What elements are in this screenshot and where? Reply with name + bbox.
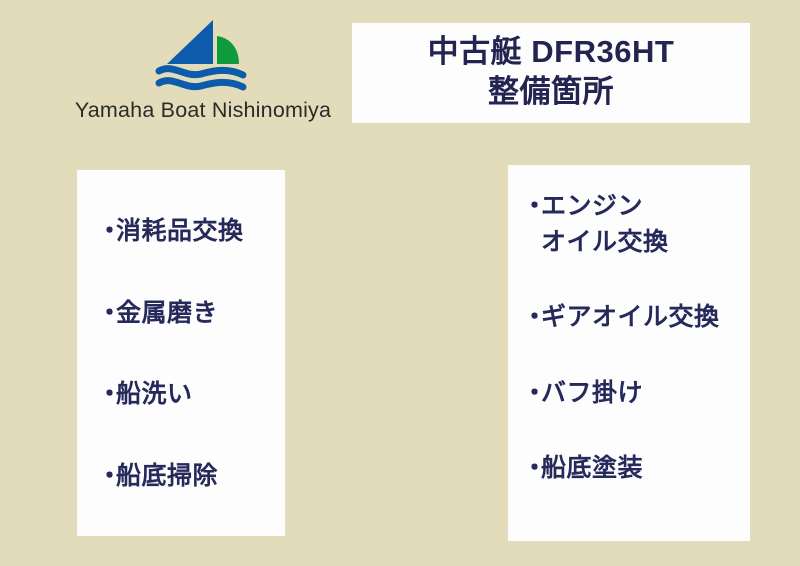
list-item-label: 金属磨き <box>116 296 285 332</box>
list-item: ・ 金属磨き <box>97 296 285 332</box>
list-item-label: ギアオイル交換 <box>541 300 750 336</box>
bullet-icon: ・ <box>522 189 541 225</box>
list-item-label: 消耗品交換 <box>116 214 285 250</box>
list-item-label: エンジン オイル交換 <box>541 189 750 260</box>
maintenance-list-right: ・ エンジン オイル交換 ・ ギアオイル交換 ・ バフ掛け ・ 船底塗装 <box>508 165 750 541</box>
list-item-label: 船底掃除 <box>116 459 285 495</box>
list-item: ・ バフ掛け <box>522 376 750 412</box>
bullet-icon: ・ <box>97 296 116 332</box>
list-item: ・ エンジン オイル交換 <box>522 189 750 260</box>
list-item: ・ ギアオイル交換 <box>522 300 750 336</box>
title-panel: 中古艇 DFR36HT 整備箇所 <box>352 23 750 123</box>
title-line-1: 中古艇 DFR36HT <box>428 32 675 72</box>
slide-canvas: Yamaha Boat Nishinomiya 中古艇 DFR36HT 整備箇所… <box>0 0 800 566</box>
bullet-icon: ・ <box>522 300 541 336</box>
list-item: ・ 船洗い <box>97 377 285 413</box>
brand-name: Yamaha Boat Nishinomiya <box>75 98 331 123</box>
title-line-2: 整備箇所 <box>488 72 614 112</box>
list-item-label: 船洗い <box>116 377 285 413</box>
maintenance-list-left: ・ 消耗品交換 ・ 金属磨き ・ 船洗い ・ 船底掃除 <box>77 170 285 536</box>
bullet-icon: ・ <box>97 214 116 250</box>
sailboat-icon <box>151 18 255 92</box>
brand-block: Yamaha Boat Nishinomiya <box>63 18 343 133</box>
bullet-icon: ・ <box>97 377 116 413</box>
bullet-icon: ・ <box>97 459 116 495</box>
bullet-icon: ・ <box>522 376 541 412</box>
list-item-label: 船底塗装 <box>541 451 750 487</box>
list-item-label: バフ掛け <box>541 376 750 412</box>
list-item: ・ 船底塗装 <box>522 451 750 487</box>
list-item: ・ 船底掃除 <box>97 459 285 495</box>
list-item: ・ 消耗品交換 <box>97 214 285 250</box>
bullet-icon: ・ <box>522 451 541 487</box>
